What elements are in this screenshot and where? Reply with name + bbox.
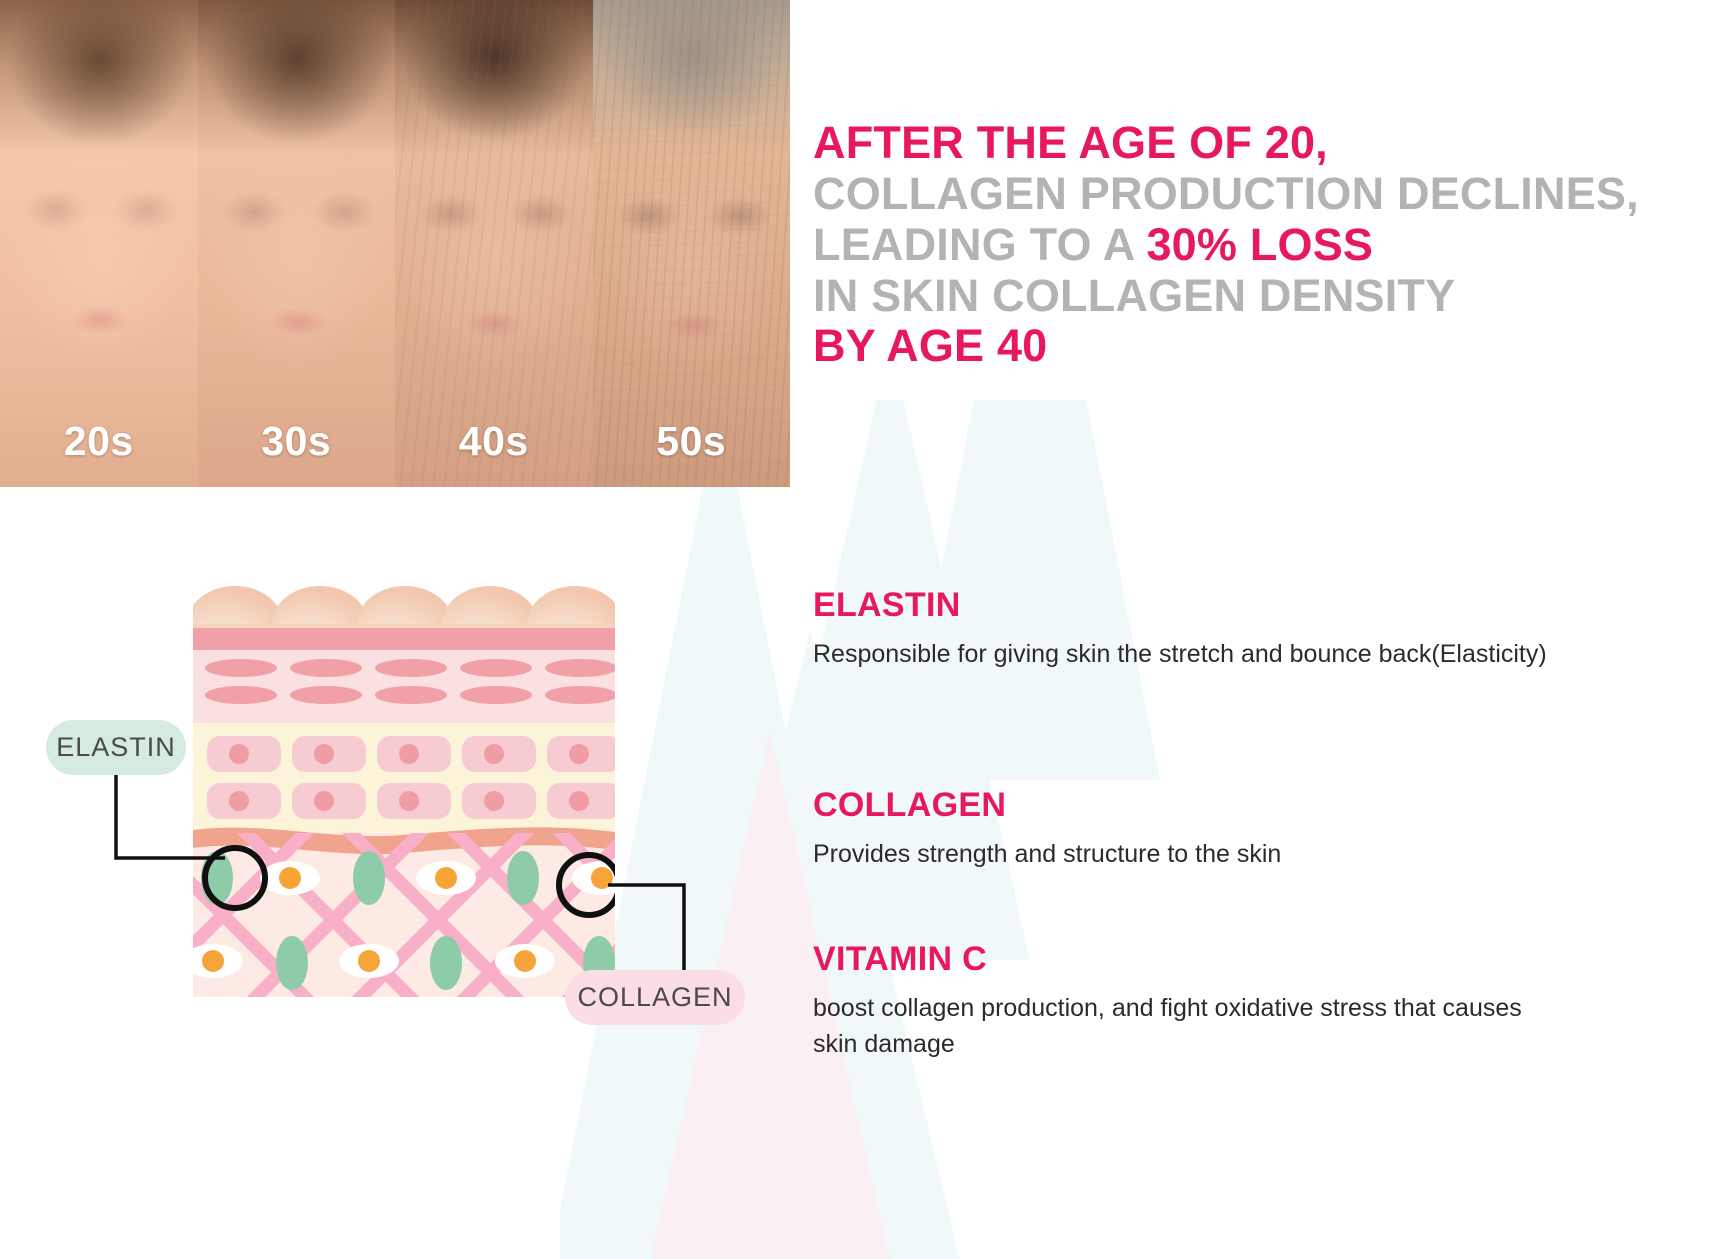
face-image-30s [198,0,396,487]
face-panel-40s: 40s [395,0,593,487]
age-label-20s: 20s [64,418,134,465]
headline: AFTER THE AGE OF 20, COLLAGEN PRODUCTION… [813,118,1613,372]
age-label-30s: 30s [261,418,331,465]
headline-line-5: BY AGE 40 [813,321,1613,372]
headline-line-3: LEADING TO A 30% LOSS [813,220,1613,271]
headline-line-4: IN SKIN COLLAGEN DENSITY [813,271,1613,322]
infographic-canvas: 20s 30s 40s 50s AFTER THE AGE OF 20, COL… [0,0,1720,1259]
face-panel-30s: 30s [198,0,396,487]
age-label-50s: 50s [656,418,726,465]
skin-cross-section-diagram [193,575,615,997]
headline-line-3-prefix: LEADING TO A [813,219,1146,270]
info-title-vitamin-c: VITAMIN C [813,940,1573,979]
face-image-50s [593,0,791,487]
age-label-40s: 40s [459,418,529,465]
info-body-collagen: Provides strength and structure to the s… [813,837,1573,873]
info-block-elastin: ELASTIN Responsible for giving skin the … [813,586,1573,673]
info-block-vitamin-c: VITAMIN C boost collagen production, and… [813,940,1573,1062]
callout-pill-elastin[interactable]: ELASTIN [46,720,186,775]
headline-line-1: AFTER THE AGE OF 20, [813,118,1613,169]
headline-line-2: COLLAGEN PRODUCTION DECLINES, [813,169,1613,220]
info-block-collagen: COLLAGEN Provides strength and structure… [813,786,1573,873]
headline-loss-highlight: 30% LOSS [1146,219,1373,270]
face-panel-20s: 20s [0,0,198,487]
face-image-20s [0,0,198,487]
callout-label-elastin: ELASTIN [56,732,176,763]
face-image-40s [395,0,593,487]
age-comparison-strip: 20s 30s 40s 50s [0,0,790,487]
callout-pill-collagen[interactable]: COLLAGEN [565,970,745,1025]
info-body-vitamin-c: boost collagen production, and fight oxi… [813,991,1573,1062]
face-panel-50s: 50s [593,0,791,487]
info-title-elastin: ELASTIN [813,586,1573,625]
stratum-band [193,628,615,650]
info-title-collagen: COLLAGEN [813,786,1573,825]
info-body-elastin: Responsible for giving skin the stretch … [813,637,1573,673]
callout-label-collagen: COLLAGEN [577,982,732,1013]
skin-layers [193,586,615,997]
